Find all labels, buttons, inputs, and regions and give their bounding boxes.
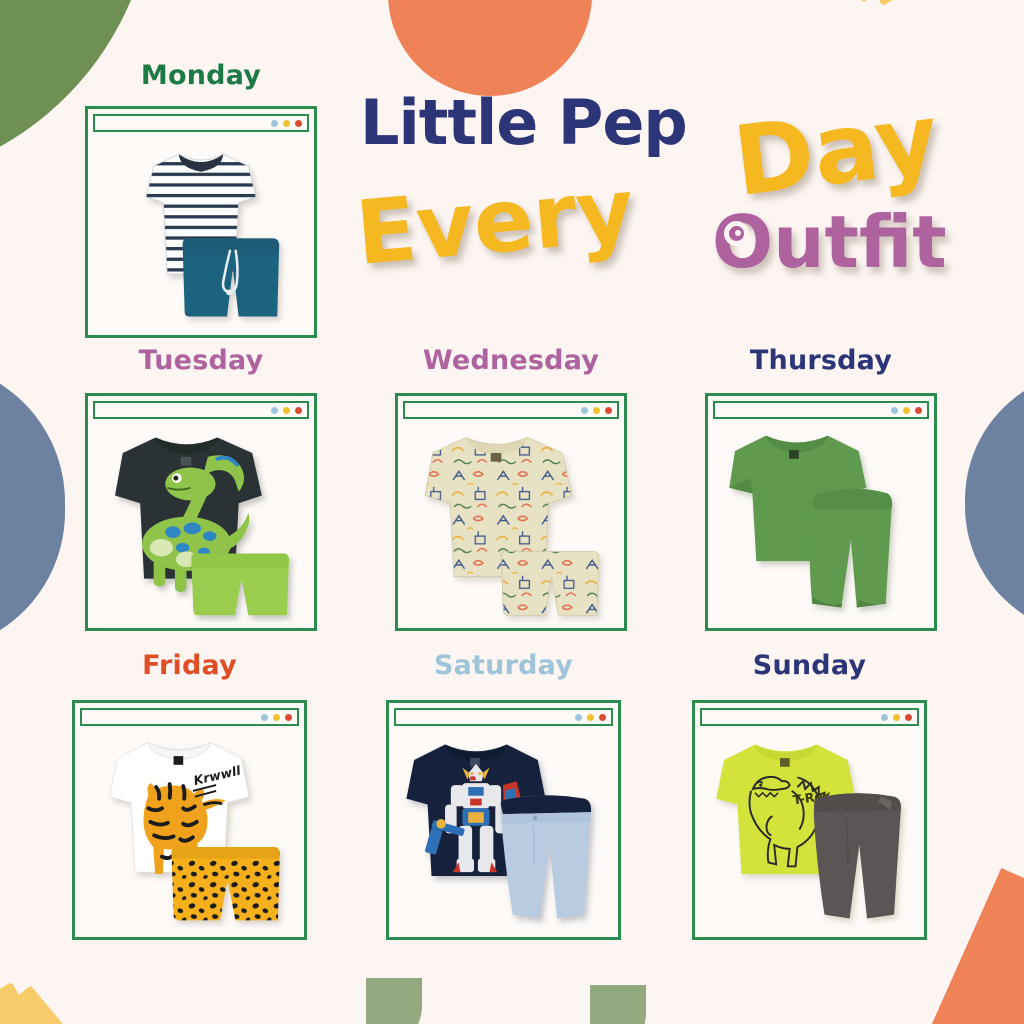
window-dot-blue-icon[interactable] [581, 407, 588, 414]
day-card-saturday[interactable]: Saturday [386, 650, 621, 940]
window-dot-blue-icon[interactable] [575, 714, 582, 721]
window-content-friday: Krwwll [80, 731, 299, 932]
browser-window-tuesday [85, 393, 317, 631]
bottom-arch-shape-1 [366, 978, 422, 1024]
day-label-friday: Friday [72, 650, 307, 681]
day-label-saturday: Saturday [386, 650, 621, 681]
browser-window-wednesday [395, 393, 627, 631]
day-label-thursday: Thursday [705, 345, 937, 376]
window-dot-red-icon[interactable] [905, 714, 912, 721]
window-dot-red-icon[interactable] [915, 407, 922, 414]
window-dot-red-icon[interactable] [605, 407, 612, 414]
title-word-outfit: Outfit [712, 200, 947, 284]
window-titlebar [80, 708, 299, 726]
poster-canvas: Little Pep Day Every Outfit Monday [0, 0, 1024, 1024]
browser-window-sunday: T-Rex [692, 700, 927, 940]
window-titlebar [394, 708, 613, 726]
top-center-orange-donut-shape [388, 0, 592, 96]
brand-name: Little Pep [360, 86, 687, 159]
window-dot-blue-icon[interactable] [881, 714, 888, 721]
title-word-every: Every [352, 158, 638, 285]
day-card-thursday[interactable]: Thursday [705, 345, 937, 635]
left-blue-circle-shape [0, 362, 65, 652]
window-dot-red-icon[interactable] [295, 407, 302, 414]
window-content-thursday [713, 424, 929, 623]
day-card-monday[interactable]: Monday [85, 60, 317, 340]
window-titlebar [713, 401, 929, 419]
outfit-image-monday [93, 137, 309, 330]
window-dot-yellow-icon[interactable] [283, 407, 290, 414]
window-dot-yellow-icon[interactable] [893, 714, 900, 721]
day-label-tuesday: Tuesday [85, 345, 317, 376]
browser-window-friday: Krwwll [72, 700, 307, 940]
window-dot-blue-icon[interactable] [261, 714, 268, 721]
outfit-image-wednesday [403, 424, 619, 623]
outfit-o-eye-icon [724, 221, 749, 246]
day-label-wednesday: Wednesday [395, 345, 627, 376]
browser-window-saturday [386, 700, 621, 940]
bottom-arch-shape-2 [590, 985, 646, 1024]
window-content-sunday: T-Rex [700, 731, 919, 932]
day-label-monday: Monday [85, 60, 317, 91]
bottom-right-orange-wedge-shape [920, 868, 1024, 1024]
window-content-tuesday [93, 424, 309, 623]
window-dot-yellow-icon[interactable] [593, 407, 600, 414]
window-dot-red-icon[interactable] [295, 120, 302, 127]
window-titlebar [700, 708, 919, 726]
outfit-image-thursday [713, 424, 929, 623]
outfit-image-sunday: T-Rex [700, 731, 919, 932]
window-dot-yellow-icon[interactable] [283, 120, 290, 127]
browser-window-monday [85, 106, 317, 338]
window-titlebar [93, 114, 309, 132]
poster-title: Little Pep Day Every Outfit [352, 86, 1012, 286]
outfit-image-friday: Krwwll [80, 731, 299, 932]
day-label-sunday: Sunday [692, 650, 927, 681]
window-titlebar [403, 401, 619, 419]
title-word-day: Day [728, 82, 944, 218]
outfit-image-saturday [394, 731, 613, 932]
day-card-wednesday[interactable]: Wednesday [395, 345, 627, 635]
window-dot-blue-icon[interactable] [891, 407, 898, 414]
window-dot-blue-icon[interactable] [271, 407, 278, 414]
window-dot-yellow-icon[interactable] [587, 714, 594, 721]
window-dot-red-icon[interactable] [599, 714, 606, 721]
window-dot-blue-icon[interactable] [271, 120, 278, 127]
right-blue-circle-shape [965, 370, 1024, 636]
day-card-sunday[interactable]: Sunday [692, 650, 927, 940]
window-dot-red-icon[interactable] [285, 714, 292, 721]
window-content-wednesday [403, 424, 619, 623]
window-dot-yellow-icon[interactable] [903, 407, 910, 414]
window-content-saturday [394, 731, 613, 932]
window-titlebar [93, 401, 309, 419]
window-content-monday [93, 137, 309, 330]
day-card-friday[interactable]: Friday [72, 650, 307, 940]
day-card-tuesday[interactable]: Tuesday [85, 345, 317, 635]
window-dot-yellow-icon[interactable] [273, 714, 280, 721]
browser-window-thursday [705, 393, 937, 631]
outfit-image-tuesday [93, 424, 309, 623]
